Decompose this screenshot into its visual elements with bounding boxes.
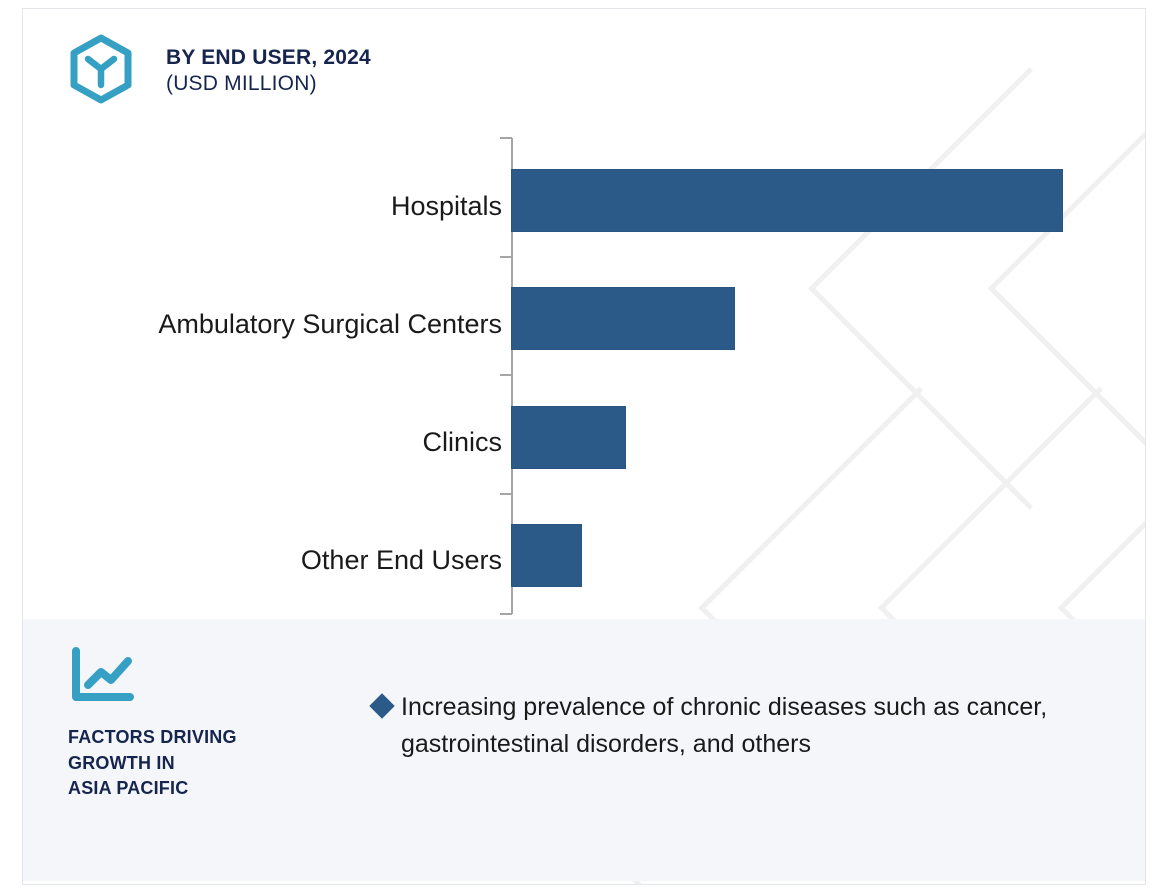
bar-other-end-users (511, 524, 582, 587)
growth-factors-heading: FACTORS DRIVING GROWTH IN ASIA PACIFIC (68, 725, 368, 802)
bar-ambulatory-surgical-centers (511, 287, 735, 350)
title-block: BY END USER, 2024 (USD MILLION) (166, 45, 371, 96)
category-label-hospitals: Hospitals (32, 193, 502, 220)
chart-card: BY END USER, 2024 (USD MILLION) Hospital… (22, 8, 1146, 885)
hexagon-y-icon (68, 34, 134, 104)
growth-factors-heading-line-2: GROWTH IN (68, 751, 368, 777)
growth-factors-heading-line-1: FACTORS DRIVING (68, 725, 368, 751)
bar-hospitals (511, 169, 1063, 232)
diamond-bullet-icon (369, 693, 394, 718)
line-chart-icon (68, 645, 136, 707)
category-label-other-end-users: Other End Users (32, 547, 502, 574)
chart-title: BY END USER, 2024 (166, 45, 371, 71)
chart-units: (USD MILLION) (166, 71, 371, 97)
chart-header: BY END USER, 2024 (USD MILLION) (68, 29, 371, 104)
growth-factors-left: FACTORS DRIVING GROWTH IN ASIA PACIFIC (68, 645, 368, 802)
category-label-clinics: Clinics (32, 429, 502, 456)
growth-factors-panel: FACTORS DRIVING GROWTH IN ASIA PACIFIC I… (23, 619, 1146, 881)
growth-factor-item: Increasing prevalence of chronic disease… (373, 689, 1113, 763)
growth-factor-text: Increasing prevalence of chronic disease… (401, 689, 1113, 763)
category-label-ambulatory-surgical-centers: Ambulatory Surgical Centers (32, 311, 502, 338)
growth-factors-heading-line-3: ASIA PACIFIC (68, 776, 368, 802)
bar-clinics (511, 406, 626, 469)
